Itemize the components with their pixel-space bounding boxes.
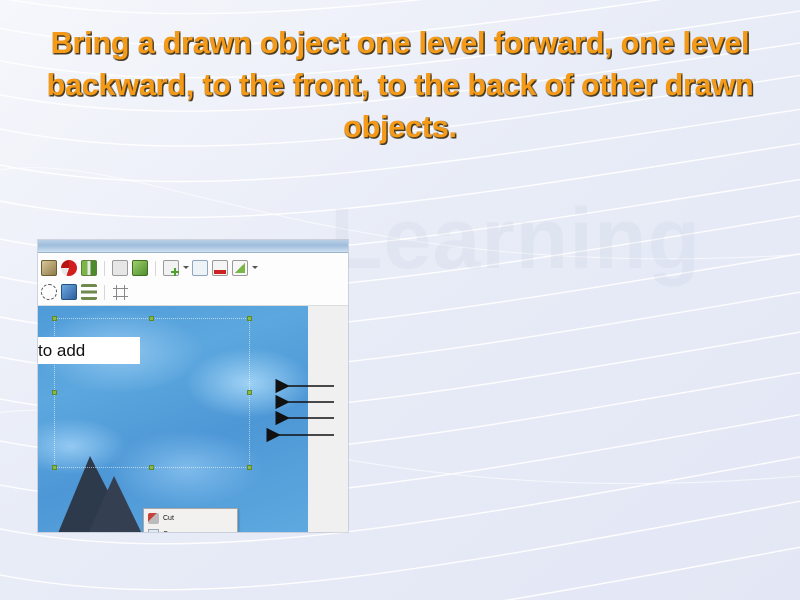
presentation-canvas[interactable]: to add (38, 306, 308, 532)
image-icon[interactable] (41, 260, 57, 276)
selection-handle[interactable] (247, 390, 252, 395)
crop-icon[interactable] (112, 284, 128, 300)
selection-handle[interactable] (247, 465, 252, 470)
toolbar-divider (104, 261, 105, 276)
display-icon[interactable] (132, 260, 148, 276)
selection-handle[interactable] (247, 316, 252, 321)
mountain-shape-secondary (86, 476, 144, 532)
glue-points-icon[interactable] (41, 284, 57, 300)
menu-item-label: Cut (163, 515, 174, 522)
layout-dropdown-caret[interactable] (252, 260, 257, 276)
context-menu[interactable]: Cut Copy Paste Line... Area... Position … (143, 508, 238, 532)
text-box-icon[interactable] (112, 260, 128, 276)
new-slide-dropdown-caret[interactable] (183, 260, 188, 276)
watermark-text: Learning (330, 190, 701, 289)
slide-title: Bring a drawn object one level forward, … (28, 22, 772, 148)
duplicate-slide-icon[interactable] (192, 260, 208, 276)
fontwork-icon[interactable] (61, 284, 77, 300)
toolbar-row-secondary (41, 281, 128, 303)
selection-handle[interactable] (52, 465, 57, 470)
canvas-placeholder-text[interactable]: to add (38, 337, 140, 364)
new-slide-icon[interactable] (163, 260, 179, 276)
selection-handle[interactable] (149, 316, 154, 321)
layout-icon[interactable] (232, 260, 248, 276)
pie-chart-icon[interactable] (61, 260, 77, 276)
align-left-icon[interactable] (81, 284, 97, 300)
selection-handle[interactable] (52, 390, 57, 395)
menu-item-cut[interactable]: Cut (144, 511, 237, 527)
menu-item-copy[interactable]: Copy (144, 527, 237, 533)
embedded-app-screenshot: to add Cut Copy Paste Line... Area... Po… (38, 240, 348, 532)
selection-handle[interactable] (52, 316, 57, 321)
chart-bars-icon[interactable] (81, 260, 97, 276)
delete-slide-icon[interactable] (212, 260, 228, 276)
toolbar-divider (155, 261, 156, 276)
menu-item-label: Copy (163, 531, 179, 532)
app-toolbar-area (38, 253, 348, 306)
selection-handle[interactable] (149, 465, 154, 470)
toolbar-divider (104, 285, 105, 300)
app-title-bar (38, 240, 348, 253)
toolbar-row-primary (41, 257, 257, 279)
scissors-icon (148, 513, 159, 524)
copy-icon (148, 529, 159, 532)
